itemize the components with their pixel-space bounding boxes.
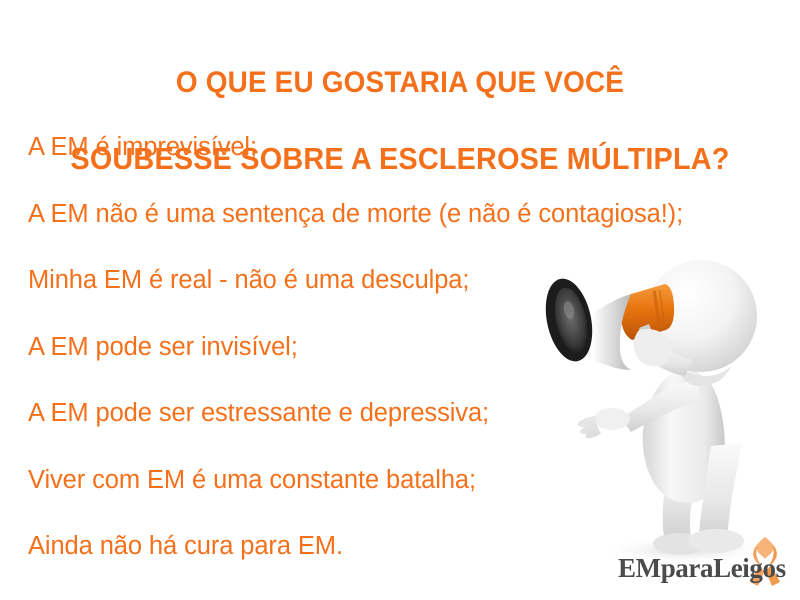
logo-text: EMparaLeigos: [618, 553, 786, 584]
list-item: A EM pode ser estressante e depressiva;: [28, 398, 800, 465]
title-line-1: O QUE EU GOSTARIA QUE VOCÊ: [28, 64, 772, 102]
brand-logo: EMparaLeigos: [618, 528, 800, 590]
list-item: A EM não é uma sentença de morte (e não …: [28, 199, 800, 266]
list-item: A EM pode ser invisível;: [28, 332, 800, 399]
list-item: A EM é imprevisível;: [28, 132, 800, 199]
slide-canvas: O QUE EU GOSTARIA QUE VOCÊ SOUBESSE SOBR…: [0, 0, 800, 600]
list-item: Viver com EM é uma constante batalha;: [28, 465, 800, 532]
list-item: Minha EM é real - não é uma desculpa;: [28, 265, 800, 332]
